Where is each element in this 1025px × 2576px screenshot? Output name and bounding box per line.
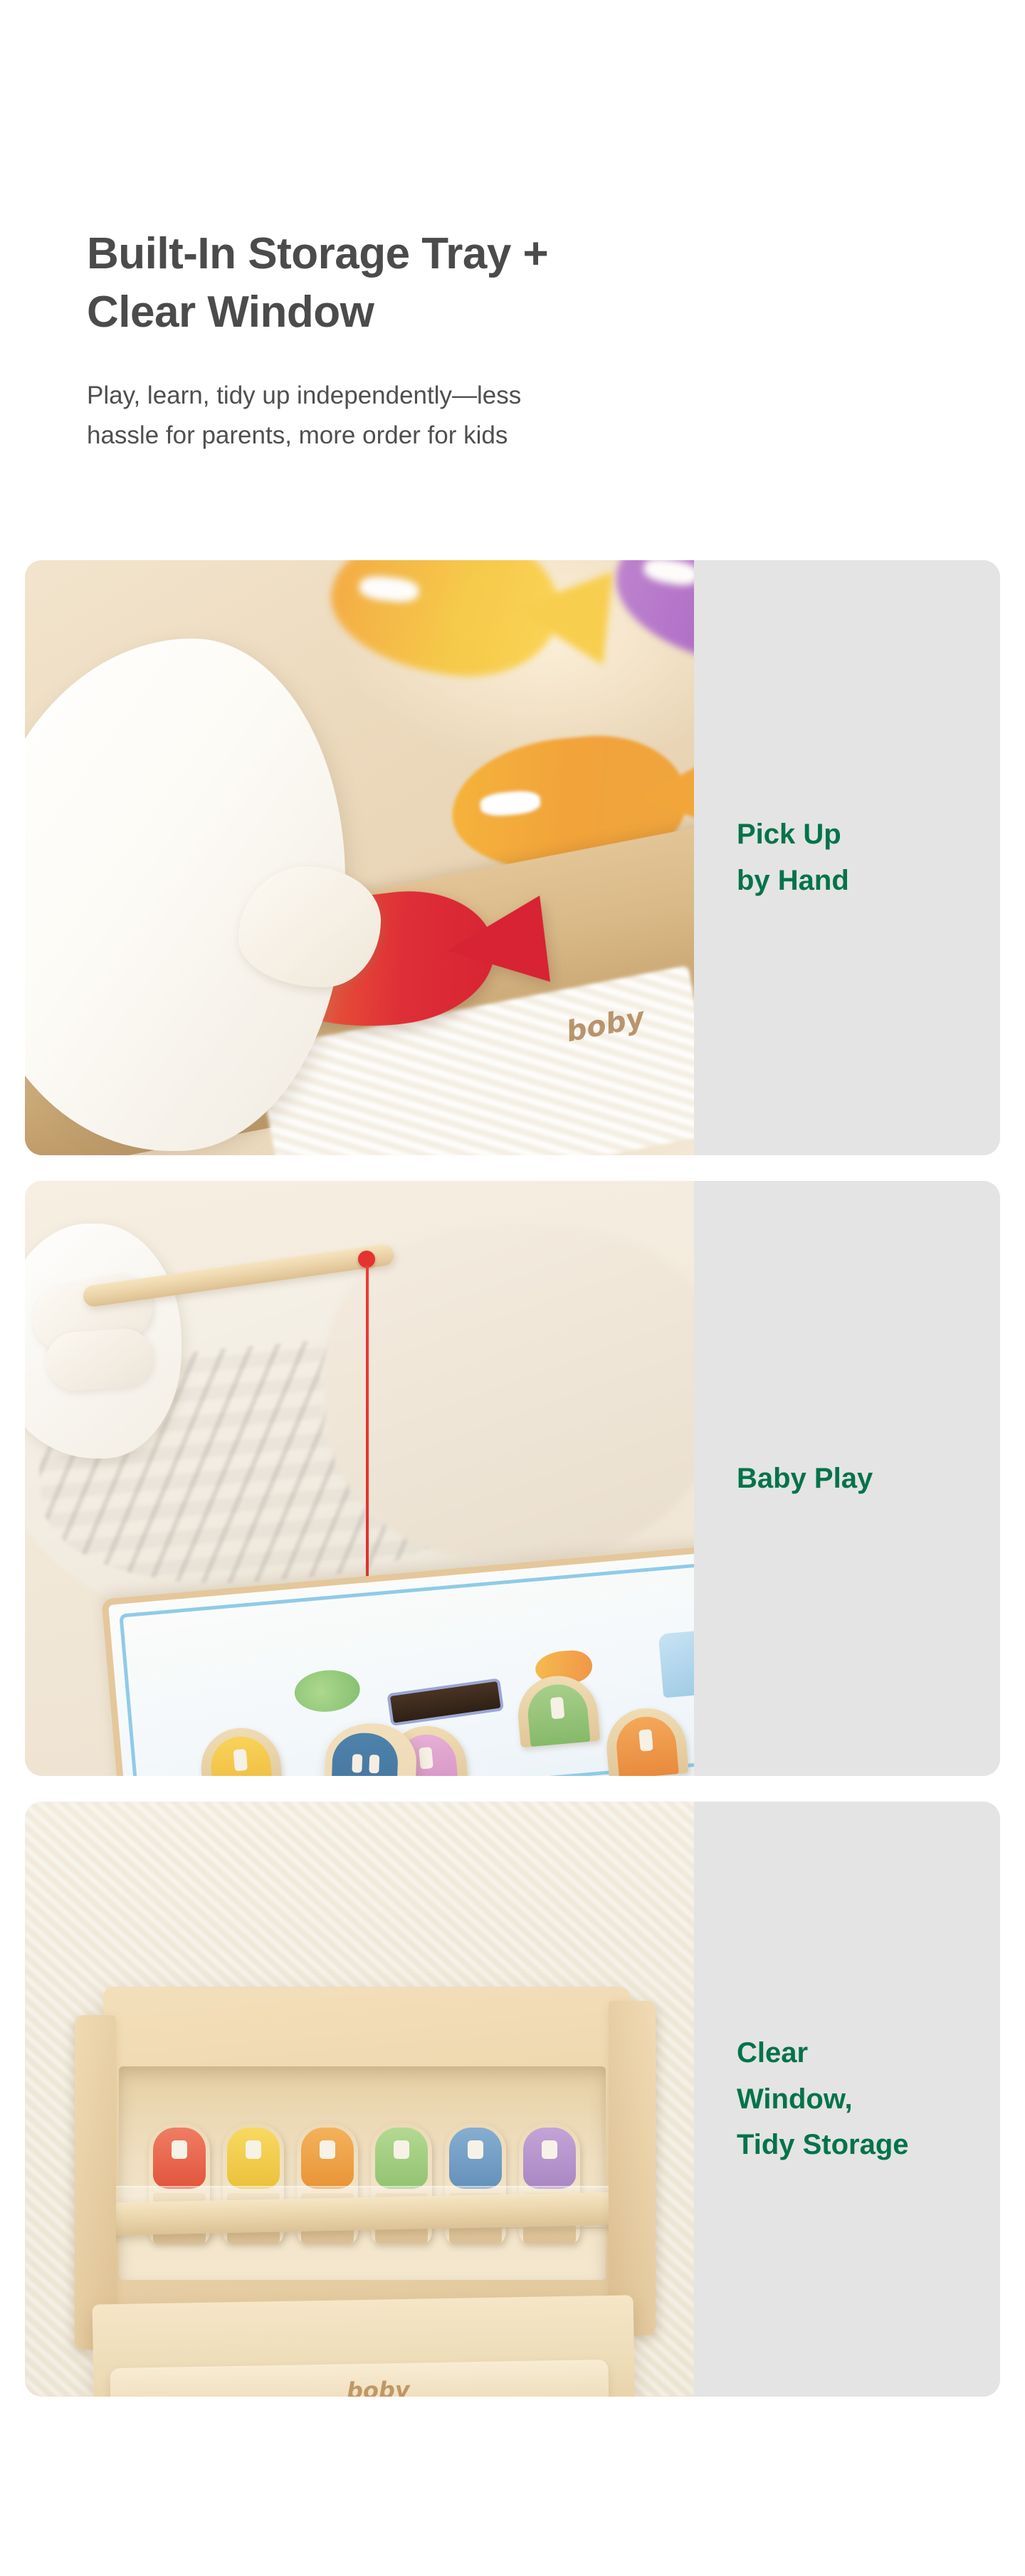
fisher-boy-illustration	[658, 1629, 694, 1698]
feature-card-list: boby Pick Up by Hand	[0, 560, 1025, 2397]
feature-card-clear-window-tidy-storage[interactable]: boby Clear Window, Tidy Storage	[25, 1802, 1000, 2397]
feature-card-baby-play[interactable]: Baby Play	[25, 1181, 1000, 1776]
card-caption-label: Baby Play	[737, 1456, 873, 1502]
photo-baby-fishing-with-magnetic-rod	[25, 1181, 694, 1776]
card-caption-panel: Clear Window, Tidy Storage	[694, 1802, 1000, 2397]
card-caption-label: Pick Up by Hand	[737, 811, 849, 904]
feature-card-pick-up-by-hand[interactable]: boby Pick Up by Hand	[25, 560, 1000, 1155]
side-panel-left	[75, 2015, 116, 2350]
child-finger-lower	[44, 1327, 154, 1392]
card-caption-label: Clear Window, Tidy Storage	[737, 2030, 909, 2168]
brand-logo-engraving: boby	[347, 2376, 410, 2397]
card-caption-panel: Baby Play	[694, 1181, 1000, 1776]
side-panel-right	[609, 2001, 656, 2335]
page-title: Built-In Storage Tray + Clear Window	[87, 225, 870, 342]
photo-toy-with-clear-window-storage-tray: boby	[25, 1802, 694, 2397]
card-caption-panel: Pick Up by Hand	[694, 560, 1000, 1155]
product-feature-page: Built-In Storage Tray + Clear Window Pla…	[0, 0, 1025, 2576]
page-header: Built-In Storage Tray + Clear Window Pla…	[0, 0, 1025, 456]
page-subtitle: Play, learn, tidy up independently—less …	[87, 376, 884, 456]
photo-child-hand-picking-wooden-fish: boby	[25, 560, 694, 1155]
cushion-secondary	[324, 1224, 694, 1558]
